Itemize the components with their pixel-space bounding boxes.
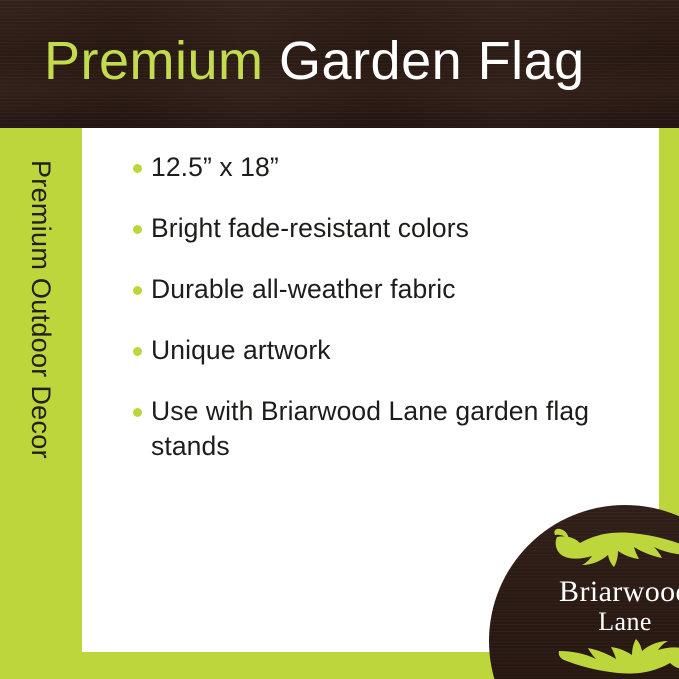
list-item: Use with Briarwood Lane garden flag stan… — [82, 394, 622, 464]
header-band: Premium Garden Flag — [0, 0, 679, 128]
bullet-dot-icon — [133, 286, 142, 295]
brand-name-line2: Lane — [559, 608, 679, 635]
list-item: Unique artwork — [82, 333, 622, 368]
page-title-accent: Premium — [44, 31, 264, 91]
list-item-label: 12.5” x 18” — [151, 152, 279, 182]
leaf-sprig-icon — [551, 527, 679, 574]
list-item: Durable all-weather fabric — [82, 272, 622, 307]
bullet-dot-icon — [133, 347, 142, 356]
leaf-sprig-icon — [551, 637, 679, 679]
bullet-dot-icon — [133, 225, 142, 234]
list-item-label: Use with Briarwood Lane garden flag stan… — [151, 396, 589, 461]
list-item: 12.5” x 18” — [82, 150, 622, 185]
bullet-dot-icon — [133, 408, 142, 417]
brand-logo-content: Briarwood Lane — [489, 505, 679, 679]
bullet-dot-icon — [133, 164, 142, 173]
list-item-label: Durable all-weather fabric — [151, 274, 456, 304]
brand-name-line1: Briarwood — [559, 576, 679, 607]
product-infographic: Premium Garden Flag Premium Outdoor Deco… — [0, 0, 679, 679]
brand-wordmark: Briarwood Lane — [559, 576, 679, 635]
feature-list: 12.5” x 18” Bright fade-resistant colors… — [82, 150, 622, 464]
side-strip: Premium Outdoor Decor — [0, 128, 82, 679]
side-strip-label: Premium Outdoor Decor — [0, 128, 82, 679]
list-item: Bright fade-resistant colors — [82, 211, 622, 246]
list-item-label: Bright fade-resistant colors — [151, 213, 469, 243]
page-title-main: Garden Flag — [264, 31, 585, 91]
page-title: Premium Garden Flag — [44, 34, 585, 88]
brand-logo-badge: Briarwood Lane — [489, 505, 679, 679]
list-item-label: Unique artwork — [151, 335, 331, 365]
